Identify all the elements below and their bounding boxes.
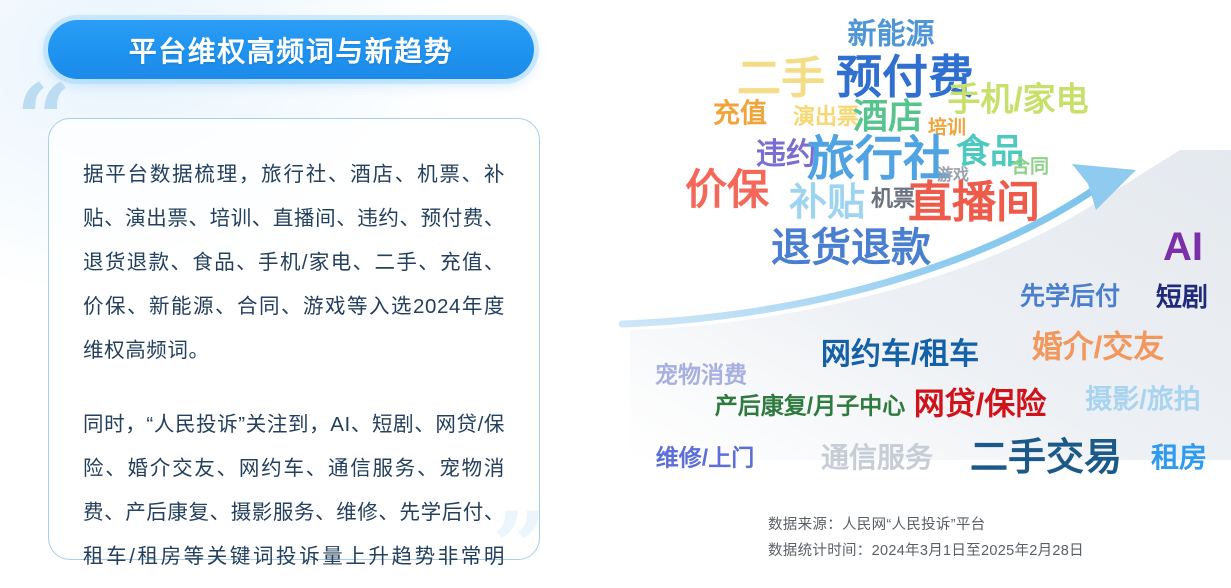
word-cloud-term: 摄影/旅拍 xyxy=(1085,387,1201,414)
data-period-line: 数据统计时间：2024年3月1日至2025年2月28日 xyxy=(768,538,1084,564)
word-cloud-term: 网贷/保险 xyxy=(914,389,1047,420)
word-cloud-term: 二手交易 xyxy=(970,439,1122,477)
word-cloud-term: 宠物消费 xyxy=(655,364,747,387)
word-cloud-term: 网约车/租车 xyxy=(821,340,979,370)
word-cloud-term: 合同 xyxy=(1011,158,1049,177)
word-cloud-term: AI xyxy=(1163,227,1203,267)
word-cloud-term: 酒店 xyxy=(853,100,923,135)
word-cloud-term: 退货退款 xyxy=(771,228,931,268)
infographic-canvas: 平台维权高频词与新趋势 “ ” 据平台数据梳理，旅行社、酒店、机票、补贴、演出票… xyxy=(0,0,1231,588)
keyword-word-cloud: 新能源二手预付费手机/家电充值演出票酒店培训违约旅行社食品游戏合同价保补贴机票直… xyxy=(0,0,1231,588)
word-cloud-term: 短剧 xyxy=(1156,284,1208,310)
word-cloud-term: 旅行社 xyxy=(807,136,951,184)
word-cloud-term: 租房 xyxy=(1151,444,1207,472)
word-cloud-term: 直播间 xyxy=(908,181,1040,225)
word-cloud-term: 新能源 xyxy=(847,21,934,50)
word-cloud-term: 维修/上门 xyxy=(656,447,754,470)
word-cloud-term: 先学后付 xyxy=(1020,285,1120,310)
word-cloud-term: 手机/家电 xyxy=(947,83,1088,116)
word-cloud-term: 产后康复/月子中心 xyxy=(715,395,905,418)
word-cloud-term: 二手 xyxy=(737,57,825,101)
word-cloud-term: 充值 xyxy=(713,101,767,128)
data-source-line: 数据来源：人民网“人民投诉”平台 xyxy=(768,512,1084,538)
data-source-note: 数据来源：人民网“人民投诉”平台 数据统计时间：2024年3月1日至2025年2… xyxy=(768,512,1084,564)
word-cloud-term: 婚介/交友 xyxy=(1032,332,1165,363)
word-cloud-term: 演出票 xyxy=(793,106,859,128)
word-cloud-term: 补贴 xyxy=(789,184,865,222)
word-cloud-term: 价保 xyxy=(685,169,769,211)
word-cloud-term: 通信服务 xyxy=(821,444,933,472)
